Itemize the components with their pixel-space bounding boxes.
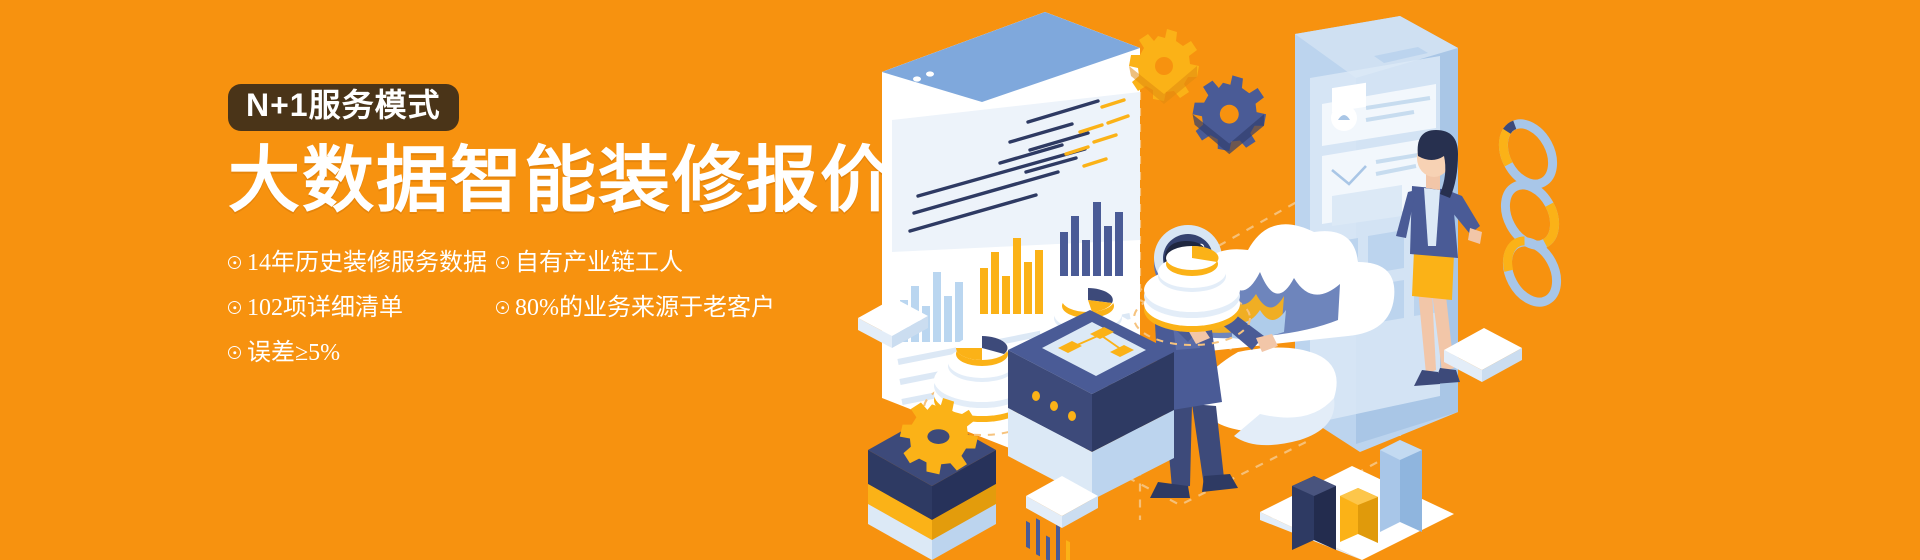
circled-dot-icon — [496, 256, 509, 269]
feature-list: 14年历史装修服务数据 102项详细清单 误差≥5% 自有产业链工人 — [228, 251, 928, 386]
list-item: 14年历史装修服务数据 — [228, 251, 496, 275]
list-item-label: 自有产业链工人 — [515, 251, 683, 275]
list-item-label: 102项详细清单 — [247, 296, 403, 320]
bar-chart-3d — [1260, 440, 1454, 560]
server-database-box — [1008, 310, 1174, 560]
ring-charts — [1493, 115, 1566, 310]
circled-dot-icon — [228, 301, 241, 314]
isometric-big-data-illustration — [840, 0, 1620, 560]
text-block: N+1服务模式 大数据智能装修报价 14年历史装修服务数据 102项详细清单 误… — [228, 84, 928, 386]
page-title: 大数据智能装修报价 — [228, 145, 928, 217]
feature-column-right: 自有产业链工人 80%的业务来源于老客户 — [496, 251, 775, 341]
list-item-label: 14年历史装修服务数据 — [247, 251, 487, 275]
list-item: 自有产业链工人 — [496, 251, 775, 275]
feature-column-left: 14年历史装修服务数据 102项详细清单 误差≥5% — [228, 251, 496, 386]
list-item: 误差≥5% — [228, 341, 496, 365]
circled-dot-icon — [228, 346, 241, 359]
server-bar-chart — [1026, 518, 1060, 560]
circled-dot-icon — [228, 256, 241, 269]
circled-dot-icon — [496, 301, 509, 314]
list-item: 102项详细清单 — [228, 296, 496, 320]
list-item: 80%的业务来源于老客户 — [496, 296, 775, 320]
service-mode-badge: N+1服务模式 — [228, 84, 459, 131]
gear-navy-icon — [1193, 75, 1267, 154]
list-item-label: 误差≥5% — [247, 341, 340, 365]
promo-banner: N+1服务模式 大数据智能装修报价 14年历史装修服务数据 102项详细清单 误… — [0, 0, 1920, 560]
list-item-label: 80%的业务来源于老客户 — [515, 296, 775, 320]
